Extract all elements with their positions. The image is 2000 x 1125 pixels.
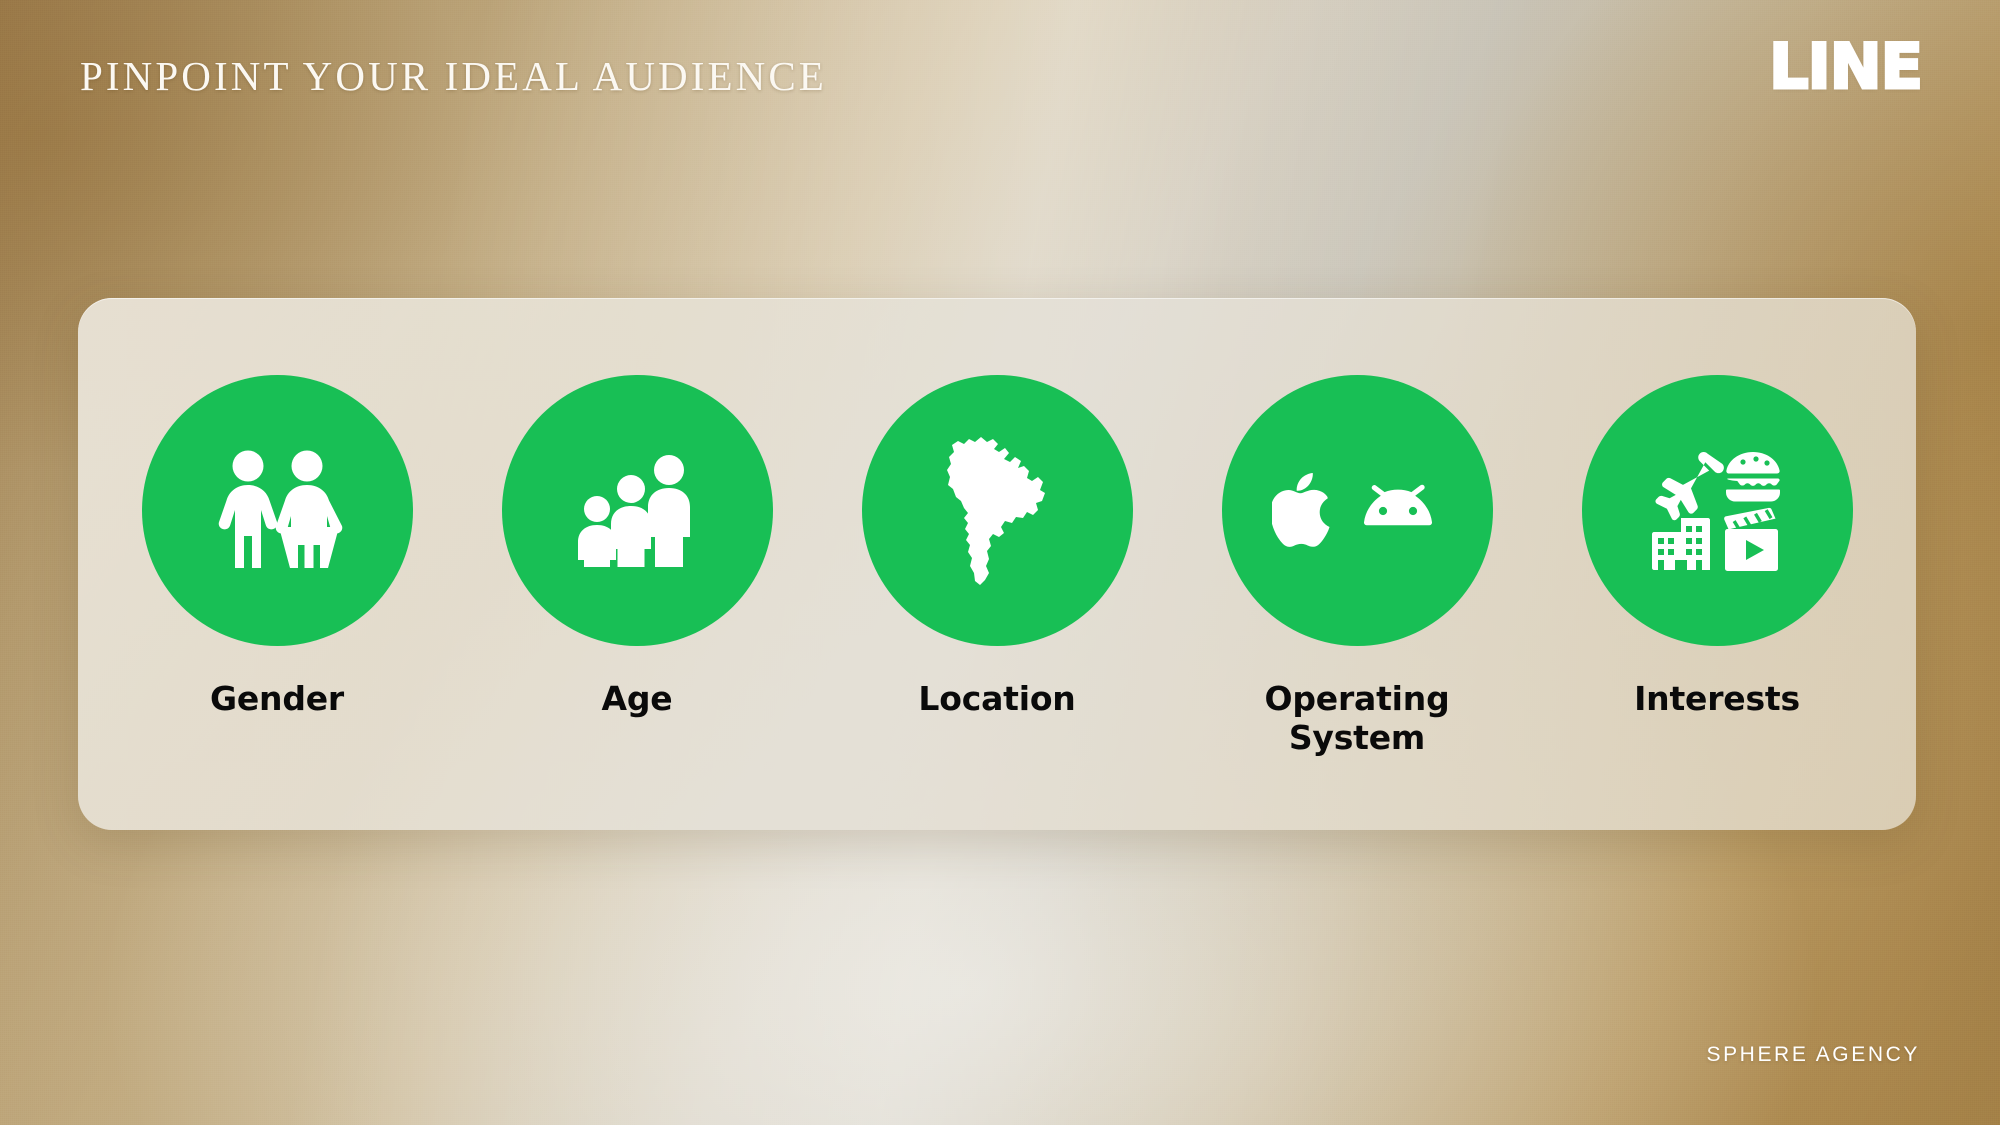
three-people-growth-icon: [573, 455, 701, 567]
criteria-label-location: Location: [918, 680, 1075, 719]
targeting-criteria-row: Gender: [78, 298, 1916, 830]
page-title: PINPOINT YOUR IDEAL AUDIENCE: [80, 52, 827, 100]
audience-targeting-panel: Gender: [78, 298, 1916, 830]
movie-clapperboard-icon: [1723, 507, 1778, 571]
building-icon: [1652, 518, 1710, 570]
airplane-icon: [1655, 452, 1723, 520]
criteria-label-interests: Interests: [1634, 680, 1800, 719]
criteria-item-interests[interactable]: Interests: [1558, 375, 1876, 719]
criteria-item-operating-system[interactable]: Operating System: [1198, 375, 1516, 758]
thailand-map-icon: [941, 435, 1053, 587]
criteria-item-age[interactable]: Age: [478, 375, 796, 719]
criteria-label-operating-system: Operating System: [1264, 680, 1449, 758]
operating-system-icon-circle: [1222, 375, 1493, 646]
interests-icon-circle: [1582, 375, 1853, 646]
apple-logo-icon: [1272, 473, 1334, 549]
criteria-item-location[interactable]: Location: [838, 375, 1156, 719]
criteria-item-gender[interactable]: Gender: [118, 375, 436, 719]
apple-android-icon: [1272, 473, 1442, 549]
burger-icon: [1726, 452, 1780, 502]
age-icon-circle: [502, 375, 773, 646]
gender-icon-circle: [142, 375, 413, 646]
airplane-burger-building-clapperboard-icon: [1650, 448, 1784, 574]
criteria-label-gender: Gender: [210, 680, 344, 719]
man-woman-pair-icon: [211, 450, 343, 572]
location-icon-circle: [862, 375, 1133, 646]
line-brand-logo: LINE: [1769, 36, 1922, 98]
criteria-label-age: Age: [602, 680, 673, 719]
android-robot-icon: [1354, 484, 1442, 538]
agency-credit: SPHERE AGENCY: [1706, 1043, 1920, 1067]
